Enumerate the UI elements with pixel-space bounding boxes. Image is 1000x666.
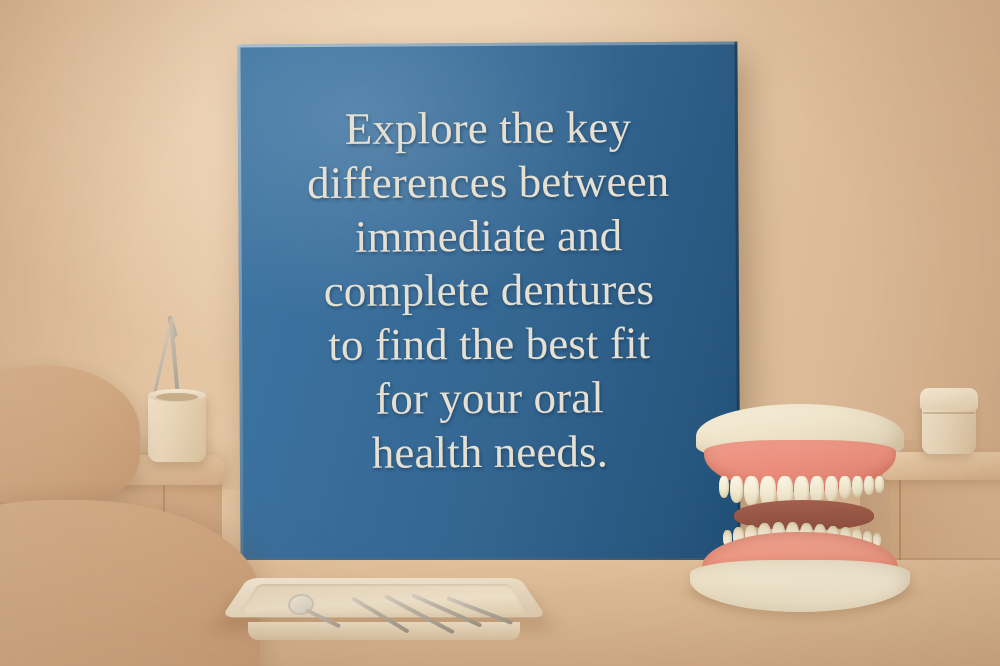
- scene-root: Explore the key differences between imme…: [0, 0, 1000, 666]
- scene-vignette: [0, 0, 1000, 666]
